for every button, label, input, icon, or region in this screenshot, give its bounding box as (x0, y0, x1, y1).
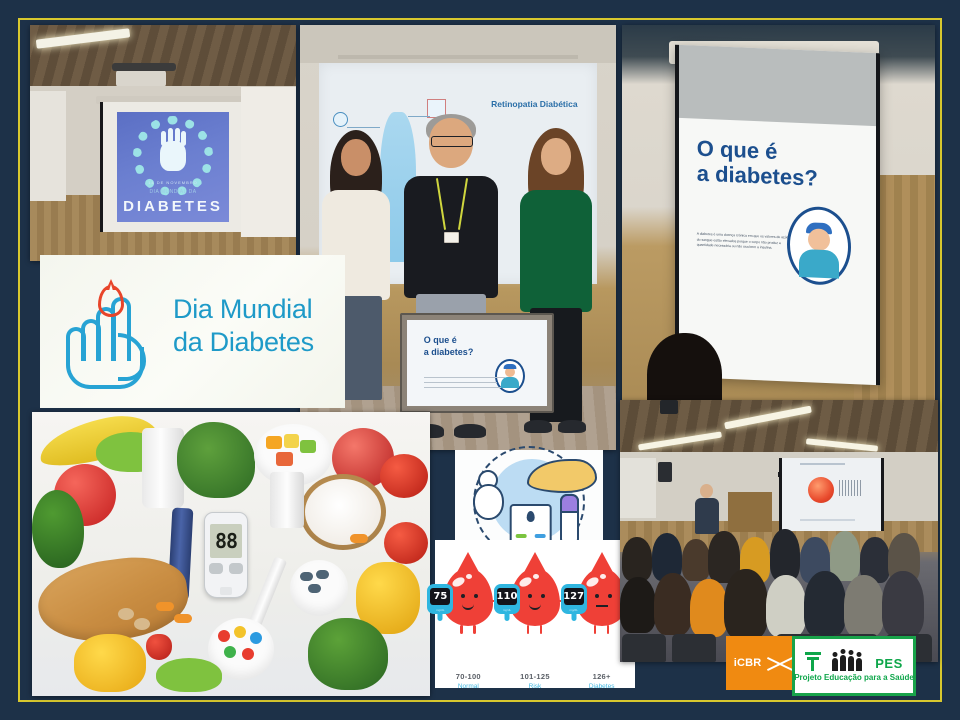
badge-display: 127 (564, 588, 584, 605)
audience-person (882, 571, 924, 637)
projector-mount (112, 63, 176, 71)
audience-person (682, 539, 710, 581)
chair (622, 634, 666, 662)
doctor-scrubs (799, 248, 839, 278)
glucose-unit: mg/dL (494, 608, 520, 612)
audience-person (724, 569, 768, 639)
tomato (384, 522, 428, 564)
logo-text: Dia Mundial da Diabetes (173, 293, 314, 359)
finger-icon (175, 128, 180, 143)
easel-slide: O que é a diabetes? (407, 320, 547, 406)
glucose-unit: mg/dL (561, 608, 587, 612)
glucose-range: 70-100 (435, 672, 502, 681)
slide-paragraph: A diabetes é uma doença crónica em que o… (697, 231, 796, 252)
projection-screen: 14 DE NOVEMBRO DIA MUNDIAL DA DIABETES (100, 102, 246, 232)
glucometer-icon (510, 504, 552, 544)
drop-highlight (466, 574, 472, 579)
finger-icon (161, 131, 166, 146)
audience-person (804, 571, 846, 637)
easel-title-line2: a diabetes? (424, 347, 474, 357)
glucose-status: Normal (435, 683, 502, 690)
glucose-value: 110 (497, 591, 518, 602)
blood-drop-character: 110 mg/dL (510, 568, 560, 626)
pes-logo: PES Projeto Educação para a Saúde (792, 636, 916, 696)
poster-collage: 14 DE NOVEMBRO DIA MUNDIAL DA DIABETES R… (0, 0, 960, 720)
drop-highlight (585, 575, 600, 588)
slide-title: DIABETES (117, 198, 229, 215)
glucose-status: Risk (502, 683, 569, 690)
icbr-logo: iCBR (726, 636, 800, 690)
logo-line1: Dia Mundial (173, 294, 312, 324)
retina-lines-icon (839, 480, 861, 496)
audience-person (654, 573, 692, 635)
drop-highlight (451, 575, 466, 588)
eye-diagram-icon (808, 477, 834, 503)
glucose-range: 101-125 (502, 672, 569, 681)
capsule (174, 614, 192, 623)
slide-title-line2: a diabetes? (697, 160, 818, 190)
projected-slide: 14 DE NOVEMBRO DIA MUNDIAL DA DIABETES (117, 112, 229, 221)
shoe (524, 420, 552, 433)
glucometer-badge: 75 mg/dL (427, 584, 453, 614)
pancreas-infographic-card (455, 450, 603, 554)
palm-shape (160, 141, 186, 171)
blood-drop-character: 75 mg/dL (443, 568, 493, 626)
shoe (454, 424, 486, 438)
projector-device (116, 70, 166, 87)
drop-highlight (518, 575, 533, 588)
slide-title: O que é a diabetes? (697, 135, 818, 191)
yellow-pepper (74, 634, 146, 692)
doctor-avatar (787, 205, 851, 286)
drop-highlight (600, 574, 606, 579)
easel-sign: O que é a diabetes? (400, 313, 554, 413)
mouth (529, 602, 541, 610)
wall-speaker (658, 462, 672, 482)
audience-person (770, 529, 800, 581)
torso-icon (473, 484, 504, 520)
connector-line (347, 127, 380, 128)
glucometer-display: 88 (210, 524, 243, 558)
yogurt-bowl (300, 474, 386, 550)
side-wall-panel (30, 91, 66, 201)
glucometer-reading: 88 (215, 529, 237, 553)
audience-person (844, 575, 884, 637)
face (341, 139, 371, 176)
pes-acronym: PES (875, 656, 903, 671)
badge-display: 110 (497, 588, 517, 605)
almond (118, 608, 134, 620)
slide-title-line1: O que é (697, 135, 778, 163)
eye (461, 594, 465, 598)
badge-display: 75 (430, 588, 450, 605)
eye (608, 594, 612, 598)
id-badge (444, 232, 459, 243)
presenter-head (700, 484, 713, 498)
photo-three-presenters: Retinopatia Diabética (300, 25, 616, 450)
eye (474, 594, 478, 598)
tomato (380, 454, 428, 498)
shoe (558, 420, 586, 433)
glucose-status: Diabetes (568, 683, 635, 690)
pen-cap (560, 494, 579, 513)
leg (607, 625, 609, 634)
leg (460, 625, 462, 634)
broccoli (177, 422, 255, 498)
glasses-icon (431, 136, 473, 147)
easel-title-line1: O que é (424, 335, 457, 345)
pes-logo-row: PES (805, 651, 903, 671)
screen-roller (338, 55, 578, 59)
audience-person (622, 537, 652, 581)
blood-glucose-levels-card: 75 mg/dL 70-100 Normal 110 (435, 540, 635, 688)
photo-lecture-hall (620, 400, 938, 662)
capsule (350, 534, 368, 543)
glucose-level-item: 75 mg/dL 70-100 Normal (435, 568, 502, 690)
mouth (596, 602, 608, 607)
leg (473, 625, 475, 634)
ceiling-speaker (660, 400, 678, 414)
audience-person (766, 575, 806, 637)
window-panel (241, 87, 296, 237)
person-silhouette-icon (469, 470, 503, 528)
photo-classroom-projector: 14 DE NOVEMBRO DIA MUNDIAL DA DIABETES (30, 25, 296, 261)
glucometer-badge: 127 mg/dL (561, 584, 587, 614)
photo-projection-screen: O que é a diabetes? A diabetes é uma doe… (622, 25, 935, 420)
audience-person (620, 577, 656, 633)
glucometer-badge: 110 mg/dL (494, 584, 520, 614)
logo-line2: da Diabetes (173, 327, 314, 357)
glucose-value: 127 (563, 591, 584, 602)
screen-upper-grey (679, 45, 876, 126)
slide-subtitle: DIA MUNDIAL DA (117, 189, 229, 195)
pills-bowl (290, 560, 348, 616)
leg (540, 625, 542, 634)
icbr-logo-inner: iCBR (731, 650, 795, 676)
eye (541, 594, 545, 598)
lettuce (156, 658, 222, 692)
glucose-level-item: 110 mg/dL 101-125 Risk (502, 568, 569, 690)
slide-title: Retinopatia Diabética (491, 99, 577, 109)
broccoli (32, 490, 84, 568)
mouth (462, 602, 474, 610)
strawberry (146, 634, 172, 660)
glucose-unit: mg/dL (427, 608, 453, 612)
icbr-label: iCBR (734, 657, 762, 669)
tree-icon (805, 651, 821, 671)
audience-person (690, 579, 728, 637)
pes-tagline: Projeto Educação para a Saúde (794, 673, 914, 682)
eye (528, 594, 532, 598)
glucose-value: 75 (433, 591, 447, 602)
slide-date-label: 14 DE NOVEMBRO (117, 180, 229, 185)
people-group-icon (831, 652, 865, 671)
finger-icon (168, 128, 173, 143)
leg (527, 625, 529, 634)
brain-node-icon (333, 112, 348, 127)
capsule (156, 602, 174, 611)
green-cardigan (520, 190, 592, 312)
projection-screen: O que é a diabetes? A diabetes é uma doe… (675, 44, 880, 384)
broccoli (308, 618, 388, 690)
dia-mundial-da-diabetes-logo-card: Dia Mundial da Diabetes (40, 255, 345, 408)
blood-drop-icon (98, 285, 124, 317)
drop-highlight (533, 574, 539, 579)
photo-healthy-food-glucometer: 88 (32, 412, 430, 696)
pill-bottle (270, 472, 304, 528)
icbr-x-mark-icon (766, 650, 794, 676)
face (541, 138, 571, 175)
chair (672, 634, 716, 662)
leg (594, 625, 596, 634)
eye (595, 594, 599, 598)
glucometer: 88 (204, 512, 248, 598)
finger-icon (181, 131, 186, 146)
glucose-range: 126+ (568, 672, 635, 681)
insulin-pen-icon (560, 494, 579, 546)
almond (134, 618, 150, 630)
window-panel (620, 458, 656, 518)
hand-drop-logo-icon (64, 285, 156, 385)
